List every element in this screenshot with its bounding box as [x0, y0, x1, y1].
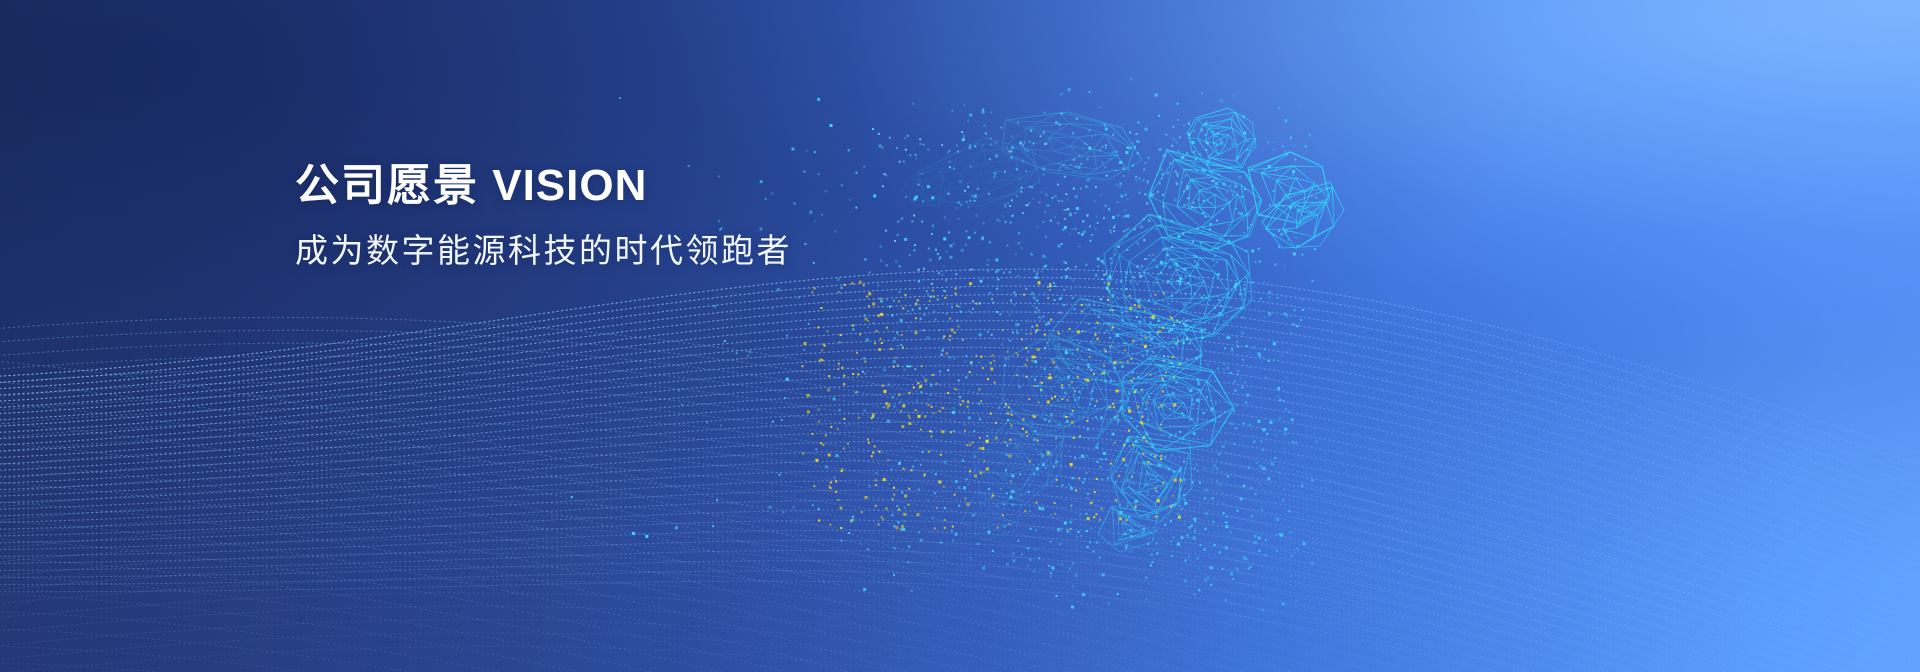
page-title-en [479, 161, 492, 210]
page-title: 公司愿景 VISION [295, 160, 1055, 212]
page-title-cn: 公司愿景 [295, 161, 479, 210]
vision-hero-banner: 公司愿景 VISION 成为数字能源科技的时代领跑者 [0, 0, 1920, 672]
page-title-en-text: VISION [492, 161, 647, 210]
hero-text-block: 公司愿景 VISION 成为数字能源科技的时代领跑者 [295, 160, 1055, 273]
dissolving-particles [0, 0, 1920, 672]
page-subtitle: 成为数字能源科技的时代领跑者 [295, 230, 1055, 273]
